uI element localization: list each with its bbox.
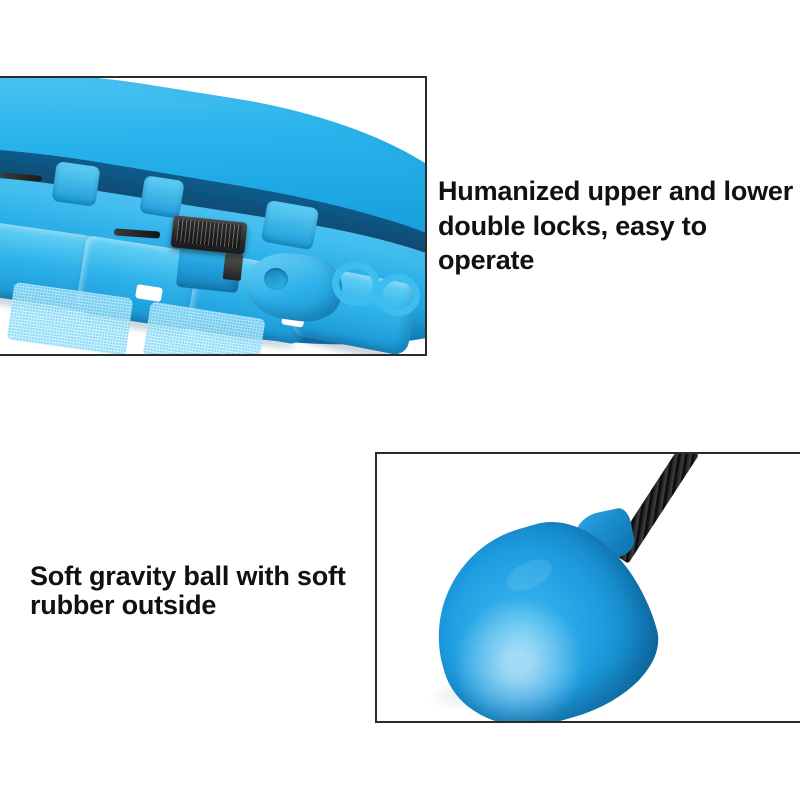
- hoop-hinge-tab: [261, 200, 320, 250]
- infographic-page: Humanized upper and lower double locks, …: [0, 0, 800, 800]
- gravity-ball-photo: [377, 454, 800, 721]
- ball-scene: [377, 454, 800, 721]
- lock-detail-panel: [0, 76, 427, 356]
- lower-lock-latch: [223, 253, 244, 281]
- hoop-scene: [0, 78, 425, 354]
- gravity-ball-panel: [375, 452, 800, 723]
- hoop-hinge-tab: [51, 161, 100, 207]
- lock-detail-photo: [0, 78, 425, 354]
- lock-caption: Humanized upper and lower double locks, …: [438, 174, 798, 278]
- hoop-hinge-tab: [139, 175, 184, 219]
- ball-caption: Soft gravity ball with soft rubber outsi…: [30, 562, 360, 619]
